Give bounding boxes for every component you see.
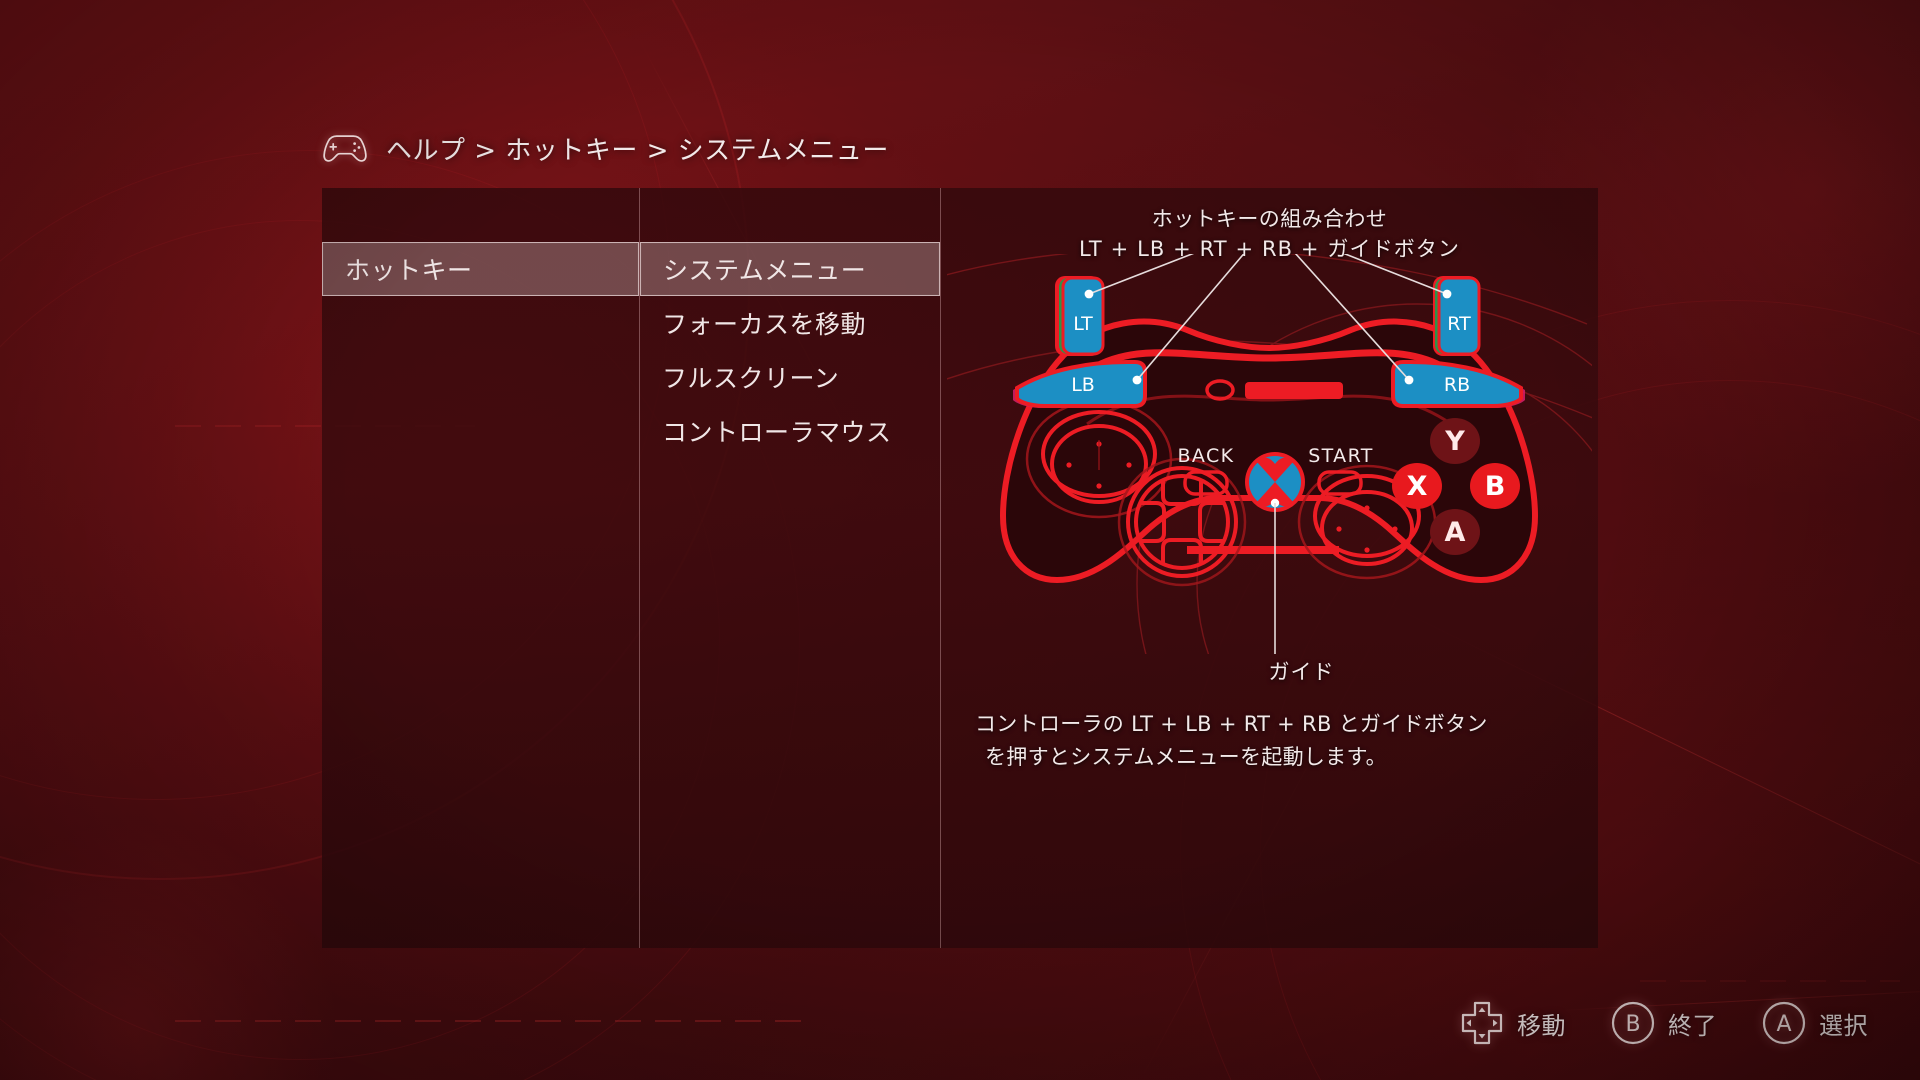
combo-title: ホットキーの組み合わせ	[941, 204, 1598, 234]
item-controller-mouse[interactable]: コントローラマウス	[640, 404, 940, 458]
item-fullscreen[interactable]: フルスクリーン	[640, 350, 940, 404]
bg-dash	[1640, 980, 1900, 982]
guide-label: ガイド	[941, 656, 1598, 686]
hint-exit[interactable]: B 終了	[1610, 1000, 1717, 1046]
item-label: フルスクリーン	[662, 359, 839, 395]
svg-text:X: X	[1407, 471, 1428, 502]
column-divider	[940, 188, 941, 948]
lt-button: LT	[1055, 276, 1103, 356]
help-screen: ヘルプ > ホットキー > システムメニュー ホットキー システムメニュー フォ…	[0, 0, 1920, 1080]
rt-button: RT	[1433, 276, 1479, 356]
hint-label: 選択	[1819, 1006, 1868, 1041]
svg-text:LB: LB	[1071, 374, 1095, 396]
svg-text:LT: LT	[1073, 313, 1093, 335]
rb-button: RB	[1393, 362, 1525, 408]
footer-hints: 移動 B 終了 A 選択	[1459, 1000, 1868, 1046]
button-a-icon: A	[1761, 1000, 1807, 1046]
gamepad-icon	[322, 131, 368, 165]
start-label: START	[1308, 445, 1374, 467]
item-system-menu[interactable]: システムメニュー	[640, 242, 940, 296]
item-label: コントローラマウス	[662, 413, 892, 449]
content-panel: ホットキー システムメニュー フォーカスを移動 フルスクリーン コントローラマウ…	[322, 188, 1598, 948]
hint-label: 終了	[1668, 1006, 1717, 1041]
hint-select[interactable]: A 選択	[1761, 1000, 1868, 1046]
category-item-hotkeys[interactable]: ホットキー	[322, 242, 639, 296]
svg-text:RB: RB	[1444, 374, 1470, 396]
controller-diagram: BACK START Y	[947, 254, 1592, 654]
description-line-1: コントローラの LT + LB + RT + RB とガイドボタン	[975, 712, 1488, 736]
back-label: BACK	[1177, 445, 1234, 467]
breadcrumb-text: ヘルプ > ホットキー > システムメニュー	[386, 130, 889, 167]
hint-label: 移動	[1517, 1006, 1566, 1041]
svg-text:A: A	[1445, 517, 1466, 548]
column-top-spacer	[640, 188, 940, 242]
breadcrumb: ヘルプ > ホットキー > システムメニュー	[322, 126, 889, 170]
svg-text:B: B	[1625, 1012, 1640, 1037]
item-column: システムメニュー フォーカスを移動 フルスクリーン コントローラマウス	[640, 188, 940, 458]
category-item-label: ホットキー	[345, 251, 473, 287]
hint-navigate[interactable]: 移動	[1459, 1001, 1566, 1045]
item-label: フォーカスを移動	[662, 305, 866, 341]
svg-text:RT: RT	[1447, 313, 1471, 335]
dpad-icon	[1459, 1001, 1505, 1045]
item-label: システムメニュー	[663, 251, 866, 287]
controller-svg: BACK START Y	[947, 254, 1592, 654]
description-line-2: を押すとシステムメニューを起動します。	[975, 741, 1570, 774]
column-top-spacer	[322, 188, 639, 242]
button-b-icon: B	[1610, 1000, 1656, 1046]
detail-description: コントローラの LT + LB + RT + RB とガイドボタン を押すとシス…	[975, 708, 1570, 773]
lb-button: LB	[1013, 362, 1145, 408]
item-move-focus[interactable]: フォーカスを移動	[640, 296, 940, 350]
svg-text:A: A	[1776, 1012, 1791, 1037]
category-column: ホットキー	[322, 188, 639, 296]
guide-label-text: ガイド	[1269, 660, 1335, 684]
svg-text:Y: Y	[1444, 426, 1465, 457]
bg-dash	[175, 1020, 815, 1022]
svg-text:B: B	[1485, 471, 1506, 502]
